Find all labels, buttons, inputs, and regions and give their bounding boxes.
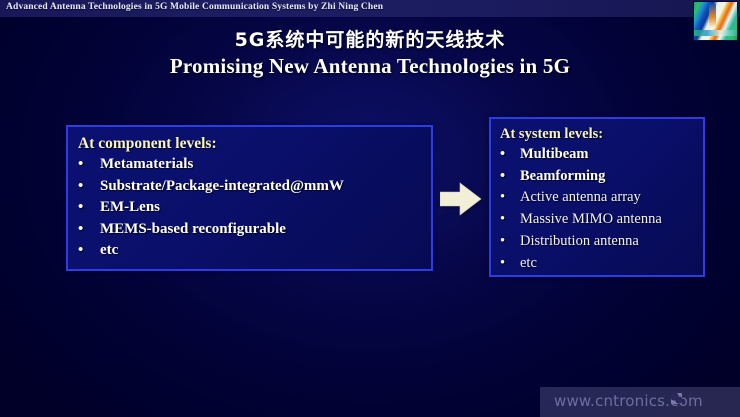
- logo-field-column: [709, 4, 716, 28]
- list-item-label: etc: [520, 253, 537, 275]
- list-item-label: Massive MIMO antenna: [520, 209, 662, 231]
- bullet-icon: •: [78, 219, 83, 241]
- list-item: • Distribution antenna: [500, 231, 694, 253]
- list-item-label: Distribution antenna: [520, 231, 639, 253]
- bullet-icon: •: [500, 187, 505, 209]
- list-item: • etc: [78, 240, 421, 262]
- system-levels-list: • Multibeam • Beamforming • Active anten…: [500, 144, 694, 274]
- system-levels-heading: At system levels:: [500, 125, 694, 143]
- list-item-label: MEMS-based reconfigurable: [100, 219, 286, 241]
- arrow-right-icon: [440, 182, 488, 224]
- slide-title: 5G系统中可能的新的天线技术 Promising New Antenna Tec…: [0, 27, 740, 80]
- list-item: • Active antenna array: [500, 187, 694, 209]
- list-item-label: Beamforming: [520, 166, 605, 188]
- bullet-icon: •: [500, 231, 505, 253]
- list-item-label: Substrate/Package-integrated@mmW: [100, 176, 344, 198]
- slide-title-chinese: 5G系统中可能的新的天线技术: [0, 27, 740, 53]
- slide-header-band: Advanced Antenna Technologies in 5G Mobi…: [0, 0, 740, 17]
- bullet-icon: •: [500, 166, 505, 188]
- qr-square-icon: [671, 393, 682, 404]
- bullet-icon: •: [500, 144, 505, 166]
- presentation-title: Advanced Antenna Technologies in 5G Mobi…: [6, 2, 383, 12]
- list-item: • etc: [500, 253, 694, 275]
- list-item: • Substrate/Package-integrated@mmW: [78, 176, 421, 198]
- list-item: • Metamaterials: [78, 154, 421, 176]
- watermark-band: www.cntronics.com: [540, 387, 740, 417]
- bullet-icon: •: [500, 253, 505, 275]
- slide-canvas: Advanced Antenna Technologies in 5G Mobi…: [0, 0, 740, 417]
- component-levels-list: • Metamaterials • Substrate/Package-inte…: [78, 154, 421, 262]
- list-item: • EM-Lens: [78, 197, 421, 219]
- bullet-icon: •: [78, 176, 83, 198]
- list-item: • Beamforming: [500, 166, 694, 188]
- list-item-label: Active antenna array: [520, 187, 641, 209]
- bullet-icon: •: [78, 154, 83, 176]
- list-item: • Massive MIMO antenna: [500, 209, 694, 231]
- list-item-label: Metamaterials: [100, 154, 193, 176]
- list-item: • Multibeam: [500, 144, 694, 166]
- component-levels-heading: At component levels:: [78, 134, 421, 153]
- bullet-icon: •: [78, 240, 83, 262]
- bullet-icon: •: [78, 197, 83, 219]
- list-item-label: EM-Lens: [100, 197, 160, 219]
- list-item-label: Multibeam: [520, 144, 588, 166]
- list-item: • MEMS-based reconfigurable: [78, 219, 421, 241]
- list-item-label: etc: [100, 240, 118, 262]
- system-levels-box: At system levels: • Multibeam • Beamform…: [489, 117, 705, 277]
- bullet-icon: •: [500, 209, 505, 231]
- component-levels-box: At component levels: • Metamaterials • S…: [66, 125, 433, 271]
- slide-title-english: Promising New Antenna Technologies in 5G: [0, 53, 740, 80]
